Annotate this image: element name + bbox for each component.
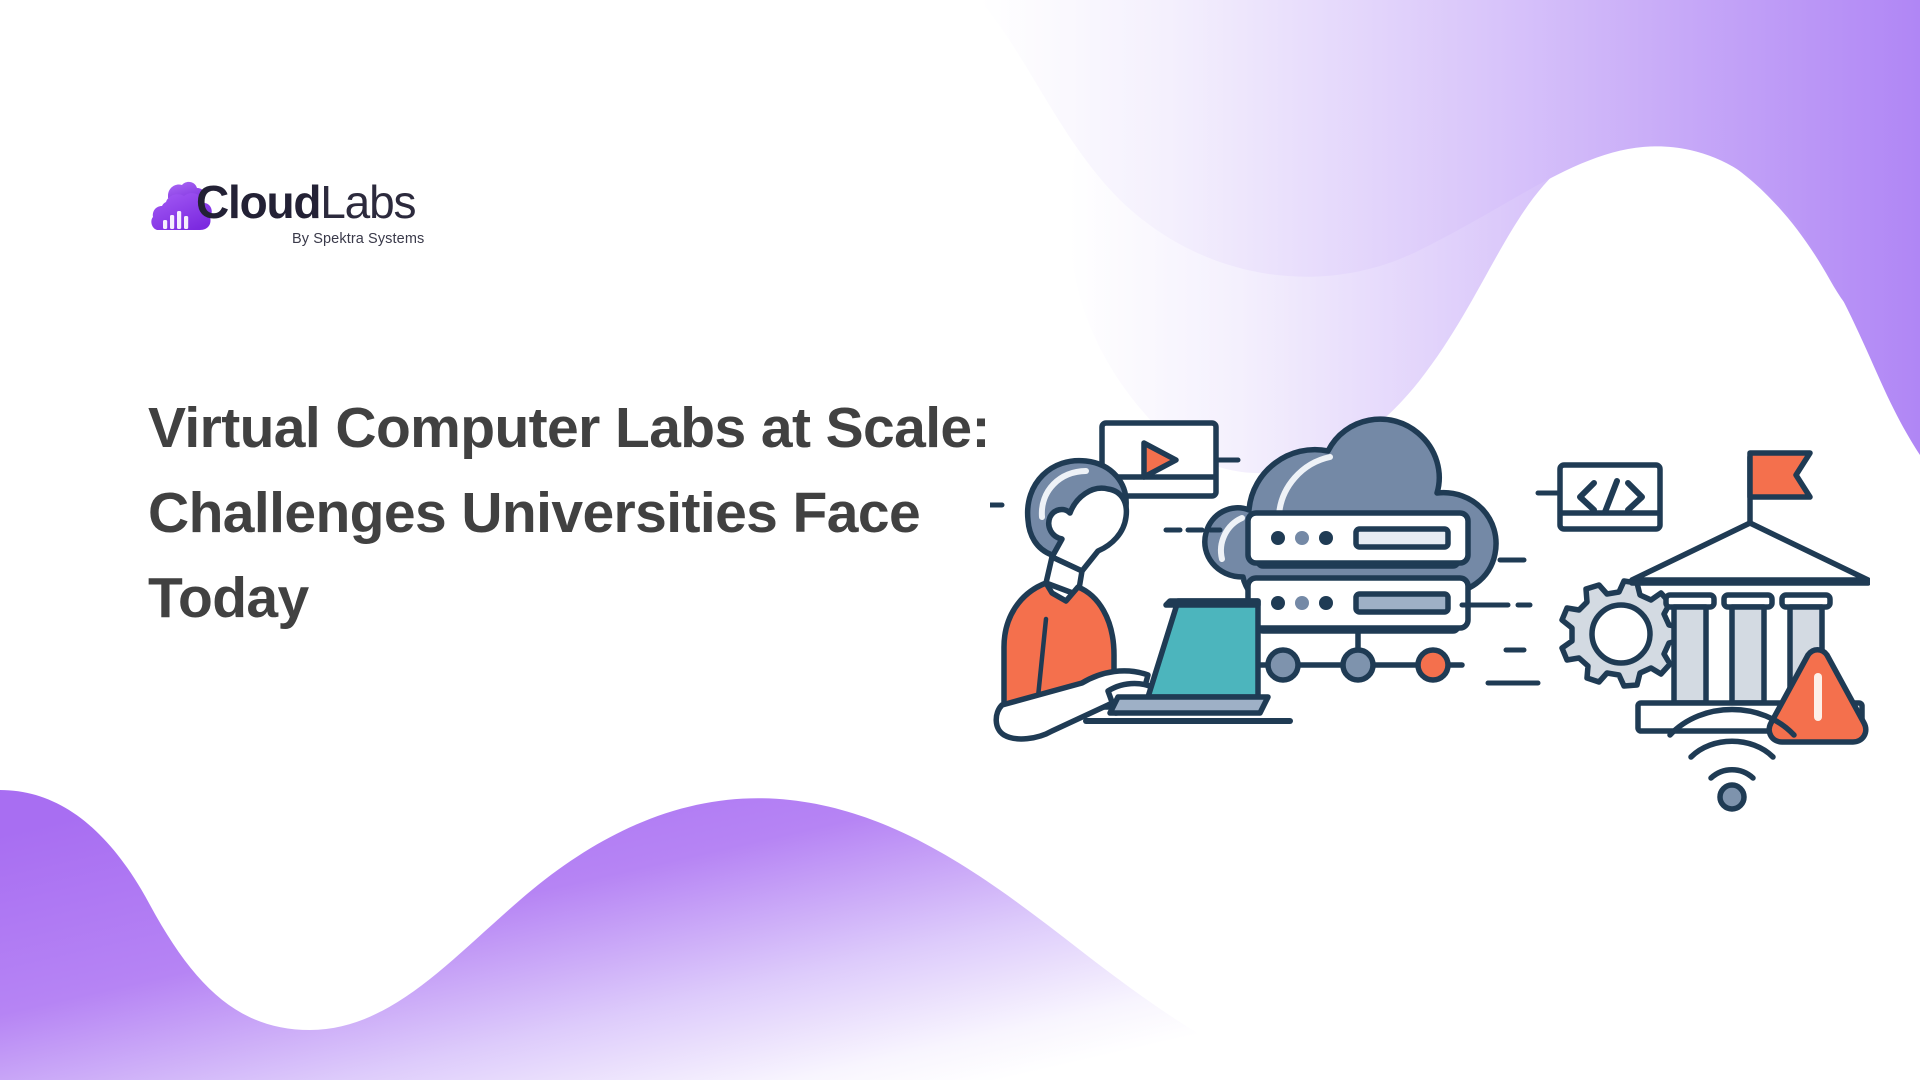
purple-wave-top-right-shape: [980, 0, 1920, 455]
purple-wave-top-right: [1069, 0, 1920, 473]
virtual-cloud-lab-illustration: [990, 405, 1870, 825]
page-title: Virtual Computer Labs at Scale: Challeng…: [148, 386, 1008, 641]
logo-tagline: By Spektra Systems: [292, 231, 424, 247]
logo-brand-secondary: Labs: [320, 176, 415, 228]
purple-wave-bottom-left: [0, 790, 1300, 1080]
gear-icon: [1562, 581, 1681, 686]
hero-banner: CloudLabs By Spektra Systems Virtual Com…: [0, 0, 1920, 1080]
site-logo[interactable]: CloudLabs By Spektra Systems: [148, 176, 448, 252]
code-window-icon: [1538, 465, 1660, 529]
logo-wordmark: CloudLabs: [196, 176, 415, 228]
logo-brand-primary: Cloud: [196, 176, 320, 228]
person-at-laptop-icon: [996, 461, 1290, 739]
